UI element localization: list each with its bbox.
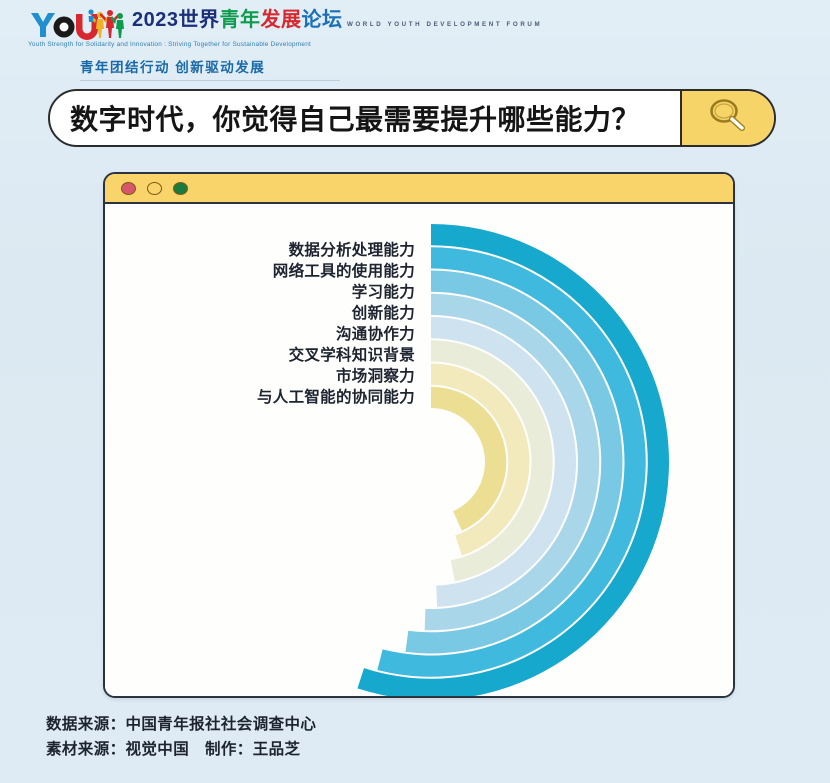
logo-tagline-en: Youth Strength for Solidarity and Innova… <box>28 41 311 48</box>
page-title: 数字时代，你觉得自己最需要提升哪些能力？ <box>50 91 680 145</box>
category-label: 交叉学科知识背景 <box>105 345 415 366</box>
category-label-list: 数据分析处理能力 网络工具的使用能力 学习能力 创新能力 沟通协作力 交叉学科知… <box>105 240 415 408</box>
source-footer: 数据来源：中国青年报社社会调查中心 素材来源：视觉中国 制作：王品芝 <box>46 712 746 762</box>
category-label: 市场洞察力 <box>105 366 415 387</box>
material-source-line: 素材来源：视觉中国 制作：王品芝 <box>46 737 746 762</box>
category-label: 与人工智能的协同能力 <box>105 387 415 408</box>
search-icon <box>707 96 749 141</box>
header-divider <box>80 80 340 81</box>
logo-tagline-cn: 青年团结行动 创新驱动发展 <box>80 56 265 76</box>
search-button[interactable] <box>680 91 774 145</box>
chart-window: 数据分析处理能力 网络工具的使用能力 学习能力 创新能力 沟通协作力 交叉学科知… <box>103 172 735 698</box>
category-label: 沟通协作力 <box>105 324 415 345</box>
maximize-dot-icon[interactable] <box>173 182 188 195</box>
category-label: 学习能力 <box>105 282 415 303</box>
category-label: 网络工具的使用能力 <box>105 261 415 282</box>
logo-title-en: WORLD YOUTH DEVELOPMENT FORUM <box>347 21 542 28</box>
data-source-line: 数据来源：中国青年报社社会调查中心 <box>46 712 746 737</box>
logo-text-block: 2023世界青年发展论坛 WORLD YOUTH DEVELOPMENT FOR… <box>132 10 542 31</box>
page-header: 2023世界青年发展论坛 WORLD YOUTH DEVELOPMENT FOR… <box>0 0 830 80</box>
close-dot-icon[interactable] <box>121 182 136 195</box>
category-label: 数据分析处理能力 <box>105 240 415 261</box>
window-titlebar <box>105 174 733 204</box>
chart-area: 数据分析处理能力 网络工具的使用能力 学习能力 创新能力 沟通协作力 交叉学科知… <box>105 204 733 698</box>
logo-title-cn: 2023世界青年发展论坛 <box>132 9 343 31</box>
category-label: 创新能力 <box>105 303 415 324</box>
question-banner: 数字时代，你觉得自己最需要提升哪些能力？ <box>48 89 776 147</box>
minimize-dot-icon[interactable] <box>147 182 162 195</box>
